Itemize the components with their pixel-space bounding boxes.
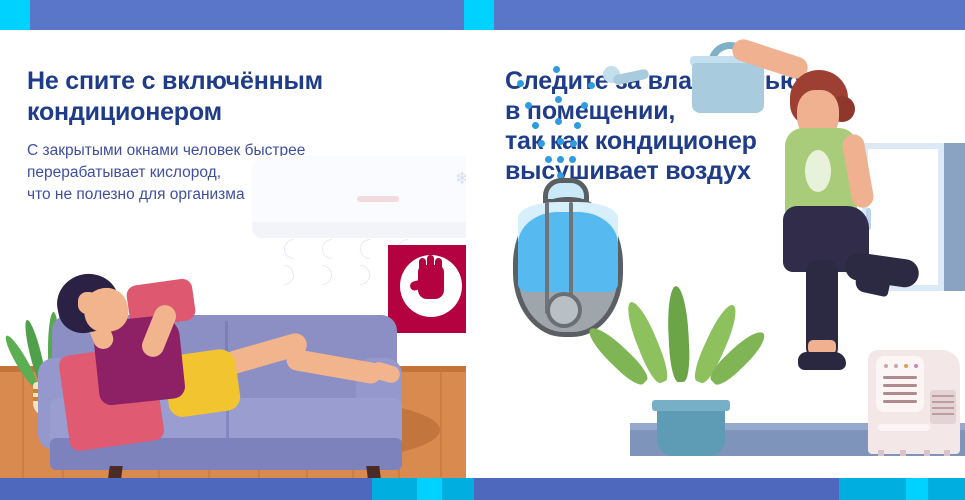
tank-top-highlight	[805, 150, 831, 192]
panel-right-heading-line-2: в помещении,	[505, 96, 675, 126]
heater-indicator-dot	[894, 364, 898, 368]
bottom-bar-segment-blue-b	[474, 478, 839, 500]
mist-droplet	[545, 156, 552, 163]
heater-indicator-dot	[914, 364, 918, 368]
heater-panel-line	[883, 400, 917, 403]
cold-air-wave-icon	[284, 236, 294, 288]
panel-left-body-line-2: перерабатывает кислород,	[27, 162, 221, 184]
mist-droplet	[569, 156, 576, 163]
bottom-bar-segment-cyan-bright-a	[417, 478, 442, 500]
wall-panel	[944, 143, 965, 291]
cold-air-wave-icon	[360, 236, 370, 288]
cold-air-wave-icon	[322, 236, 332, 288]
mist-droplet	[538, 140, 545, 147]
watering-can-body	[692, 63, 764, 113]
woman-hand	[78, 292, 98, 314]
bottom-bar-segment-cyan-deep-d	[928, 478, 965, 500]
panel-right-heading-line-4: высушивает воздух	[505, 156, 751, 186]
panel-divider	[466, 30, 495, 478]
heater-vent-line	[932, 401, 954, 403]
woman-shoe	[798, 352, 846, 370]
bottom-bar-segment-cyan-bright-b	[906, 478, 928, 500]
hand-finger	[427, 255, 434, 271]
mist-droplet	[555, 96, 562, 103]
heater-panel-line	[883, 384, 917, 387]
heater-indicator-dot	[884, 364, 888, 368]
mist-droplet	[574, 122, 581, 129]
heater-slot	[878, 424, 930, 431]
heater-vent	[930, 390, 956, 424]
mist-droplet	[553, 66, 560, 73]
mist-droplet	[555, 118, 562, 125]
heater-foot	[924, 450, 930, 456]
infographic-stage: Не спите с включённым кондиционером С за…	[0, 0, 965, 500]
mist-droplet	[517, 80, 524, 87]
hand-finger	[435, 258, 442, 272]
mist-droplet	[525, 102, 532, 109]
plant-leaf	[666, 286, 691, 383]
mist-droplet	[570, 140, 577, 147]
heater-appliance	[868, 350, 960, 454]
panel-left-heading-line-2: кондиционером	[27, 97, 222, 127]
panel-left-body-line-3: что не полезно для организма	[27, 184, 245, 206]
heater-panel-line	[883, 376, 917, 379]
mist-droplet	[557, 156, 564, 163]
humidifier-inner-tube	[545, 202, 549, 314]
bottom-bar	[0, 478, 965, 500]
mist-droplet	[557, 138, 564, 145]
heater-indicator-dot	[904, 364, 908, 368]
heater-vent-line	[932, 413, 954, 415]
panel-right: Следите за влажностью в помещении, так к…	[495, 30, 965, 478]
panel-left-heading-line-1: Не спите с включённым	[27, 66, 323, 96]
no-touch-sign	[388, 245, 466, 333]
bottom-bar-segment-cyan-deep-c	[839, 478, 906, 500]
humidifier-water	[518, 212, 618, 292]
humidifier-control-knob[interactable]	[546, 292, 582, 328]
mist-droplet	[532, 122, 539, 129]
air-conditioner-indicator	[357, 196, 399, 202]
plant-pot-rim	[652, 400, 730, 411]
heater-vent-line	[932, 395, 954, 397]
hand-finger	[419, 258, 426, 272]
mist-droplet	[588, 82, 595, 89]
top-bar-segment-blue-mid	[30, 0, 464, 30]
bottom-bar-segment-blue-a	[0, 478, 372, 500]
heater-foot	[900, 450, 906, 456]
snowflake-icon: ❄	[455, 170, 466, 188]
heater-foot	[878, 450, 884, 456]
floor-plank-line	[440, 372, 442, 478]
top-bar-segment-cyan-left	[0, 0, 30, 30]
mist-droplet	[581, 102, 588, 109]
top-bar-segment-blue-right	[494, 0, 965, 30]
top-bar-segment-cyan-mid	[464, 0, 494, 30]
heater-panel-line	[883, 392, 917, 395]
panel-left: Не спите с включённым кондиционером С за…	[0, 30, 466, 478]
floor-plank-line	[22, 372, 24, 478]
heater-control-panel[interactable]	[876, 356, 924, 412]
plant-pot	[657, 400, 725, 456]
heater-foot	[944, 450, 950, 456]
bottom-bar-segment-cyan-deep-a	[372, 478, 417, 500]
sofa-leg	[106, 466, 122, 478]
bottom-bar-segment-cyan-deep-b	[442, 478, 474, 500]
top-bar	[0, 0, 965, 30]
heater-vent-line	[932, 407, 954, 409]
